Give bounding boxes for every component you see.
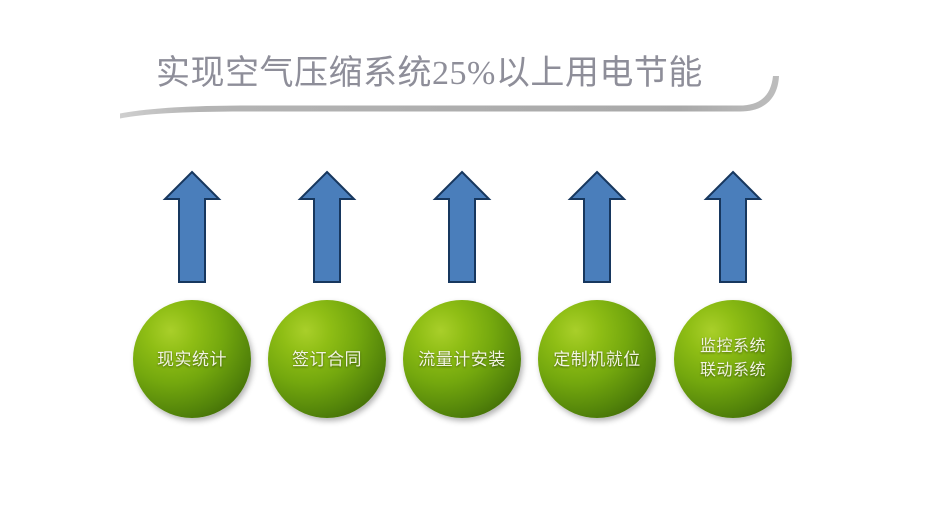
step-label-1: 现实统计 — [151, 348, 233, 371]
step-label-5: 监控系统 联动系统 — [694, 335, 772, 383]
slide-canvas: 实现空气压缩系统25%以上用电节能 现实统计 签订合同 — [0, 0, 945, 529]
up-arrow-icon — [566, 168, 628, 286]
step-circle-5[interactable]: 监控系统 联动系统 — [674, 300, 792, 418]
up-arrow-icon — [702, 168, 764, 286]
up-arrow-icon — [161, 168, 223, 286]
step-circle-2[interactable]: 签订合同 — [268, 300, 386, 418]
step-label-3: 流量计安装 — [412, 348, 512, 371]
up-arrow-icon — [296, 168, 358, 286]
up-arrow-icon — [431, 168, 493, 286]
step-circle-3[interactable]: 流量计安装 — [403, 300, 521, 418]
step-label-2: 签订合同 — [286, 348, 368, 371]
step-label-4: 定制机就位 — [547, 348, 647, 371]
step-circle-1[interactable]: 现实统计 — [133, 300, 251, 418]
process-steps: 现实统计 签订合同 流量计安装 定 — [0, 0, 945, 529]
step-circle-4[interactable]: 定制机就位 — [538, 300, 656, 418]
